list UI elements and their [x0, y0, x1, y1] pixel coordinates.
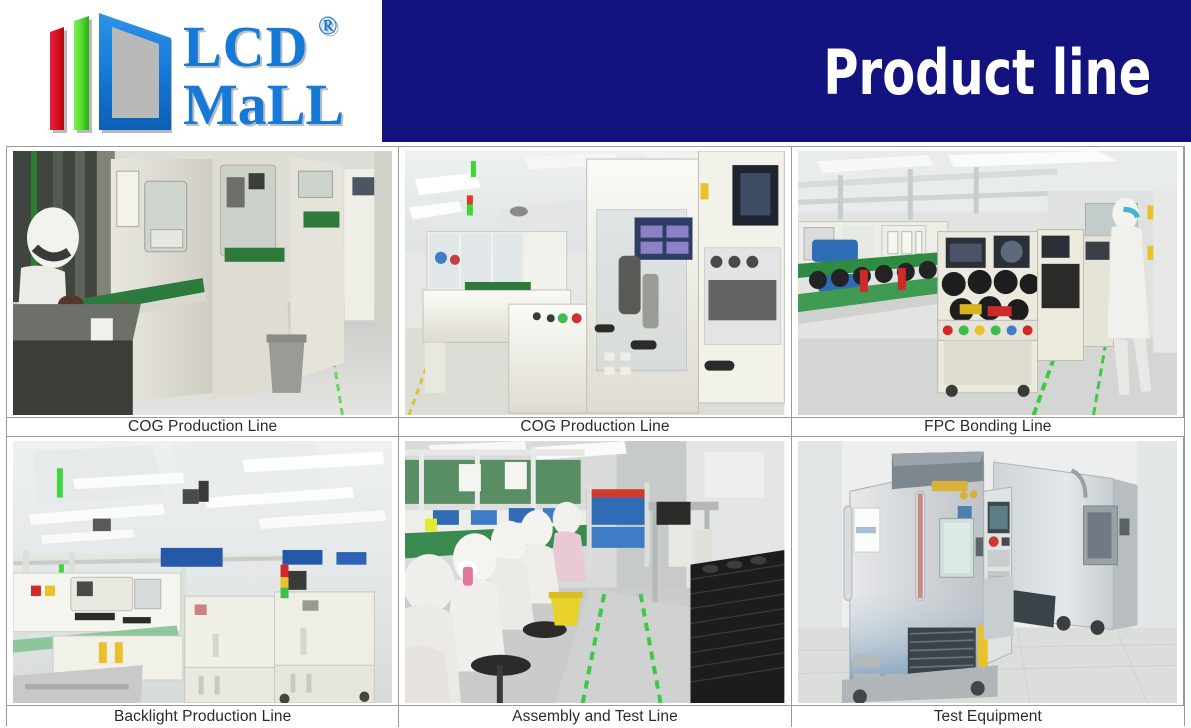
slide-header: Product line: [0, 0, 1191, 145]
gallery-caption-assembly-and-test-line: Assembly and Test Line: [399, 705, 791, 727]
brand-logo[interactable]: LCD LCD ® ® MaLL MaLL: [42, 8, 372, 134]
gallery-cell-fpc-bonding-line[interactable]: [792, 147, 1184, 417]
slide-page: Product line: [0, 0, 1191, 728]
gallery-caption-fpc-bonding-line: FPC Bonding Line: [792, 417, 1184, 437]
svg-text:®: ®: [318, 11, 337, 40]
gallery-caption-backlight-production-line: Backlight Production Line: [7, 705, 399, 727]
gallery-caption-cog-production-line-2: COG Production Line: [399, 417, 791, 437]
lcd-mall-wordmark: LCD LCD ® ® MaLL MaLL: [180, 10, 380, 134]
page-title: Product line: [823, 42, 1151, 104]
photo-backlight-production-line: [13, 441, 392, 703]
gallery-caption-cog-production-line-1: COG Production Line: [7, 417, 399, 437]
gallery-cell-backlight-production-line[interactable]: [7, 437, 399, 705]
gallery-caption-test-equipment: Test Equipment: [792, 705, 1184, 727]
photo-test-equipment: [798, 441, 1177, 703]
gallery-cell-test-equipment[interactable]: [792, 437, 1184, 705]
lcd-mall-logo-mark: [42, 8, 172, 134]
gallery-cell-cog-production-line-2[interactable]: [399, 147, 791, 417]
photo-assembly-and-test-line: [405, 441, 784, 703]
photo-cog-production-line-2: [405, 151, 784, 415]
photo-fpc-bonding-line: [798, 151, 1177, 415]
gallery-cell-assembly-and-test-line[interactable]: [399, 437, 791, 705]
gallery-cell-cog-production-line-1[interactable]: [7, 147, 399, 417]
svg-text:MaLL: MaLL: [183, 72, 344, 134]
product-line-gallery: COG Production Line COG Production Line …: [6, 146, 1185, 726]
photo-cog-production-line-1: [13, 151, 392, 415]
svg-text:LCD: LCD: [183, 14, 308, 79]
